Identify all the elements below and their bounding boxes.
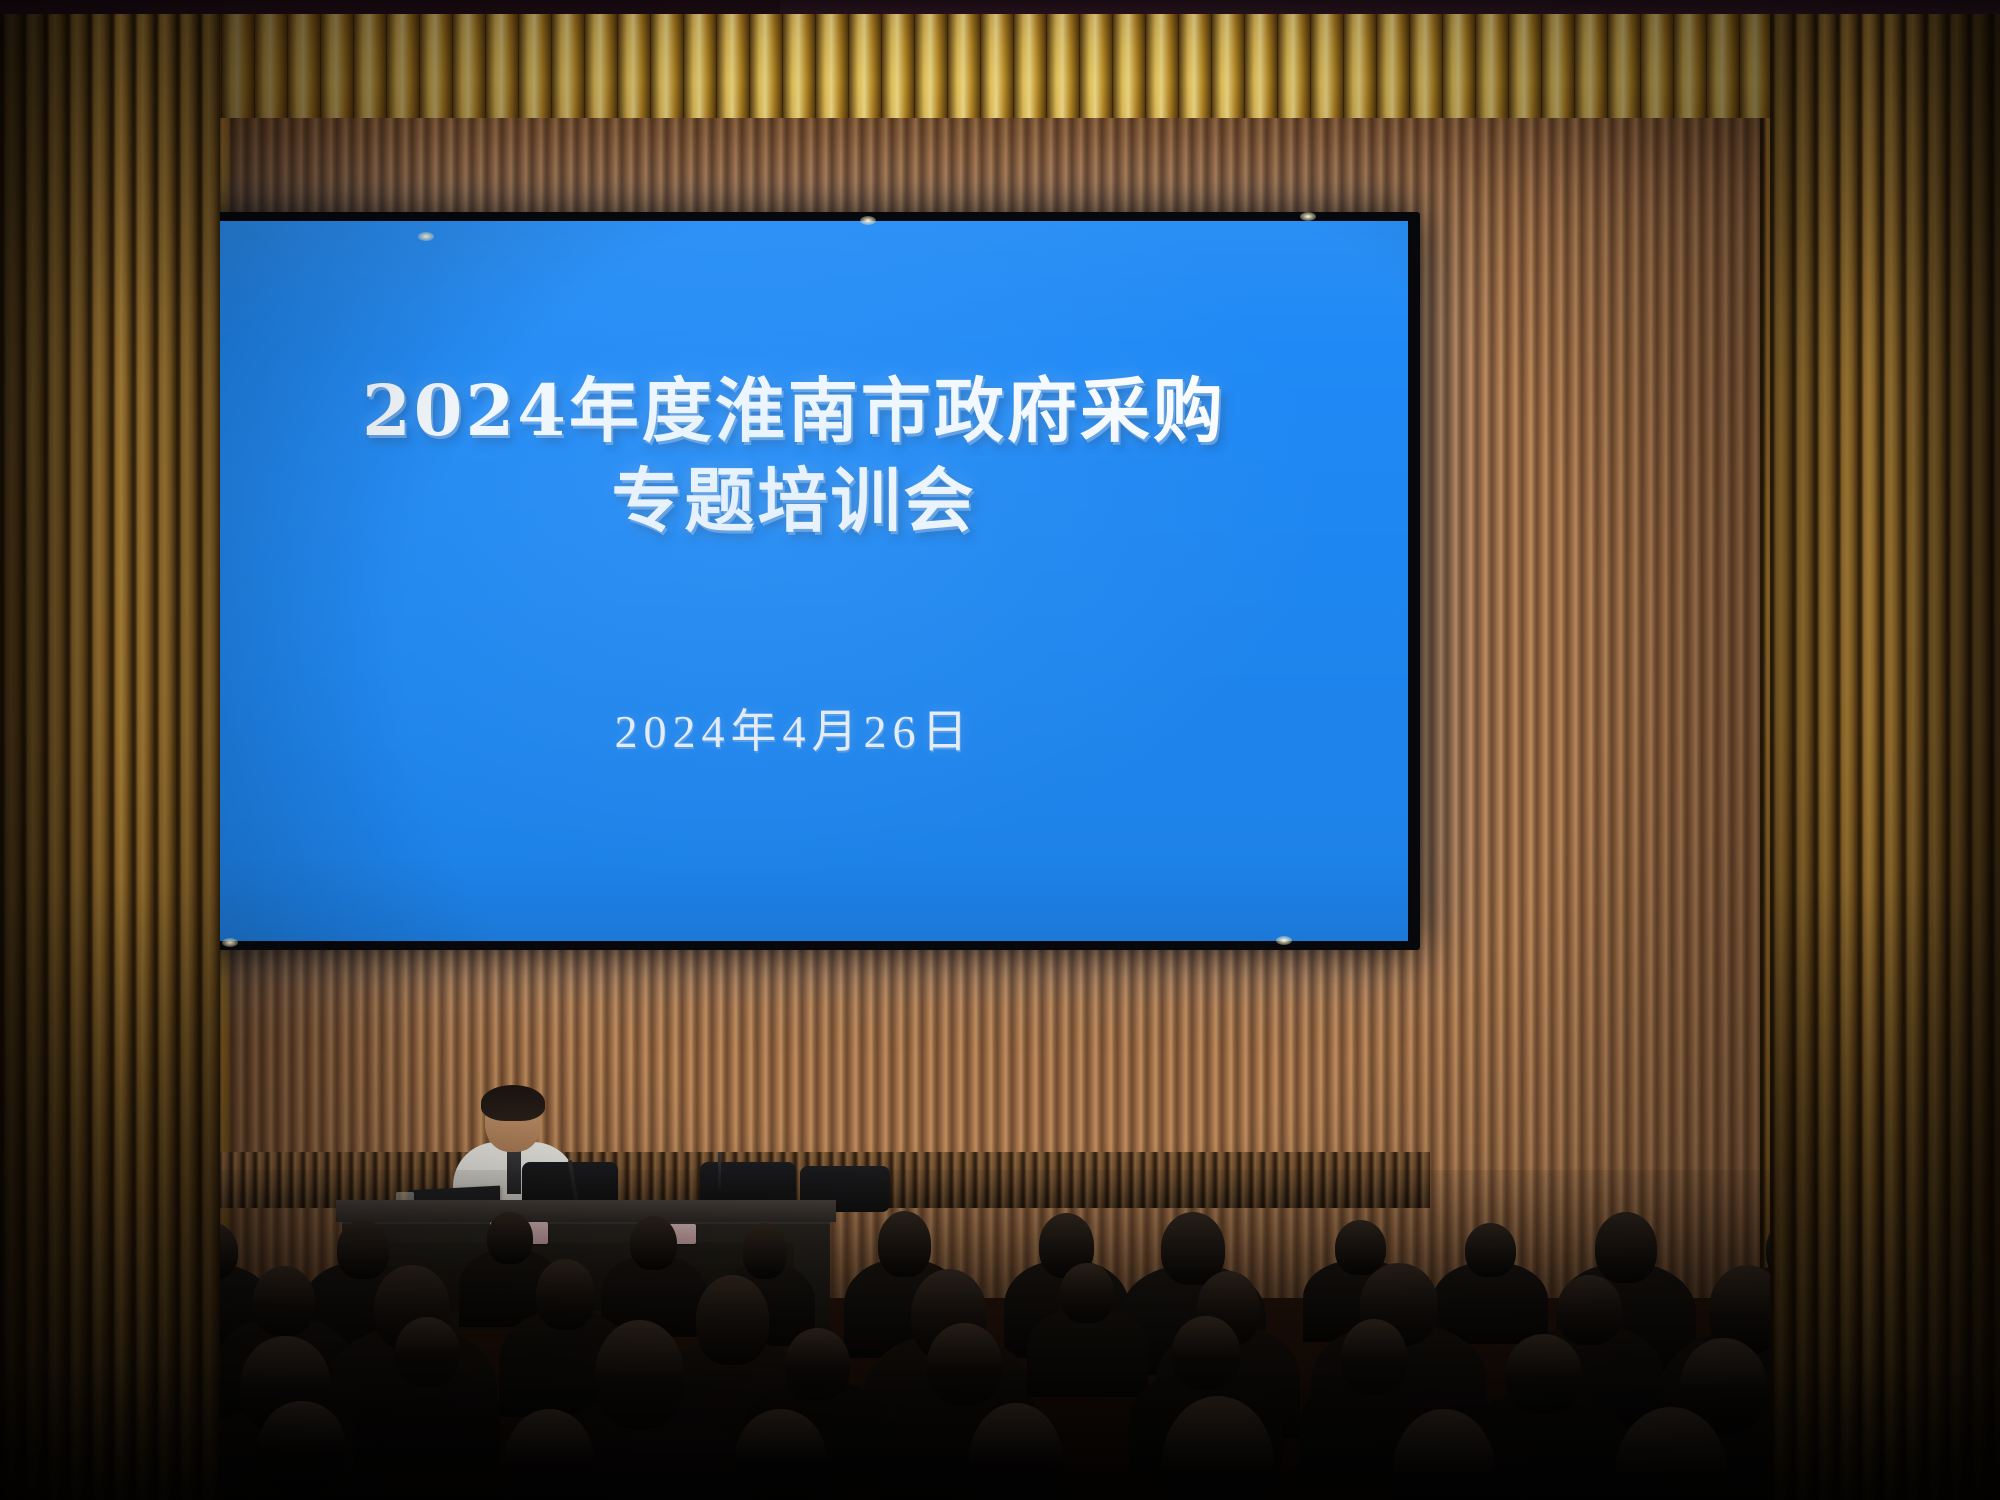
audience-member-head	[253, 1266, 315, 1336]
ceiling-lamp-highlight	[222, 938, 238, 947]
stage-curtain-right	[1770, 14, 2000, 1500]
curtain-right-horizontal-shading	[1770, 14, 2000, 1500]
audience-member-head	[630, 1216, 677, 1271]
audience-member-head	[735, 1409, 826, 1500]
audience-member-head	[487, 1212, 532, 1264]
presentation-slide: 2024年度淮南市政府采购 专题培训会 2024年4月26日	[180, 221, 1408, 941]
slide-title: 2024年度淮南市政府采购 专题培训会	[180, 366, 1408, 545]
audience-member-head	[1557, 1275, 1622, 1344]
audience-member-head	[595, 1320, 685, 1429]
audience-member-head	[1335, 1220, 1386, 1275]
audience-member-head	[1505, 1334, 1582, 1415]
audience-member-head	[878, 1211, 931, 1277]
audience-member-head	[1341, 1319, 1407, 1394]
audience-member-head	[536, 1259, 596, 1330]
stage-curtain-left	[0, 14, 220, 1500]
presenter-hair	[481, 1085, 545, 1121]
audience-member-head	[1465, 1223, 1516, 1278]
audience-member-head	[337, 1220, 389, 1278]
slide-title-line-2: 专题培训会	[180, 456, 1408, 546]
audience-member-head	[258, 1401, 345, 1493]
audience-area	[0, 1170, 2000, 1500]
audience-member-head	[743, 1223, 788, 1278]
ceiling-lamp-highlight	[418, 232, 434, 241]
ceiling-lamp-highlight	[1300, 212, 1316, 221]
audience-member-head	[927, 1323, 1002, 1405]
slide-date: 2024年4月26日	[180, 695, 1408, 761]
conference-hall-scene: 2024年度淮南市政府采购 专题培训会 2024年4月26日	[0, 0, 2000, 1500]
audience-member-head	[696, 1275, 769, 1365]
audience-member-head	[1595, 1212, 1658, 1284]
curtain-left-horizontal-shading	[0, 14, 220, 1500]
led-screen[interactable]: 2024年度淮南市政府采购 专题培训会 2024年4月26日	[180, 221, 1408, 941]
ceiling-lamp-highlight	[1276, 936, 1292, 945]
audience-member-head	[395, 1317, 460, 1386]
audience-member-head	[785, 1328, 850, 1400]
audience-member-head	[1172, 1316, 1240, 1390]
audience-member-head	[1060, 1263, 1114, 1323]
ceiling-lamp-highlight	[860, 216, 876, 225]
slide-title-line-1: 2024年度淮南市政府采购	[362, 369, 1226, 452]
